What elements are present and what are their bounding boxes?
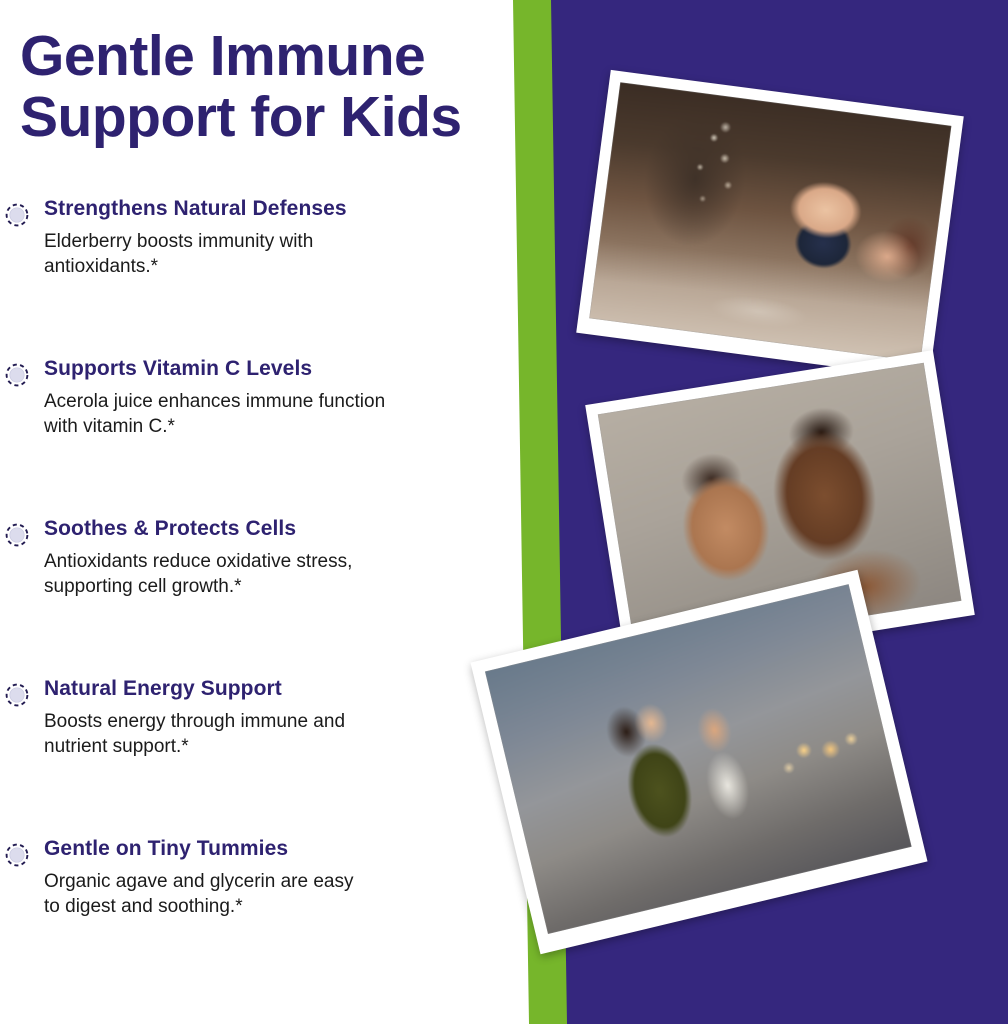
- infographic-canvas: Gentle Immune Support for Kids Strengthe…: [0, 0, 1008, 1024]
- photo-image-area: [589, 82, 951, 362]
- photo-image: [589, 82, 951, 362]
- benefit-description-line-1: Elderberry boosts immunity with: [44, 230, 540, 254]
- page-title: Gentle Immune Support for Kids: [20, 26, 580, 148]
- benefit-item-5: Gentle on Tiny Tummies Organic agave and…: [0, 836, 540, 919]
- benefit-title: Soothes & Protects Cells: [44, 516, 540, 541]
- benefits-list: Strengthens Natural Defenses Elderberry …: [0, 196, 540, 919]
- benefit-title: Supports Vitamin C Levels: [44, 356, 540, 381]
- benefit-description: Organic agave and glycerin are easy to d…: [44, 870, 540, 919]
- title-line-2: Support for Kids: [20, 87, 580, 148]
- benefit-description-line-1: Acerola juice enhances immune function: [44, 390, 540, 414]
- benefit-description-line-2: to digest and soothing.*: [44, 895, 540, 919]
- benefit-item-4: Natural Energy Support Boosts energy thr…: [0, 676, 540, 836]
- benefit-item-1: Strengthens Natural Defenses Elderberry …: [0, 196, 540, 356]
- benefit-item-2: Supports Vitamin C Levels Acerola juice …: [0, 356, 540, 516]
- benefit-description-line-2: nutrient support.*: [44, 735, 540, 759]
- benefit-description-line-2: supporting cell growth.*: [44, 575, 540, 599]
- benefit-title: Natural Energy Support: [44, 676, 540, 701]
- benefit-description-line-2: with vitamin C.*: [44, 415, 540, 439]
- benefit-title: Strengthens Natural Defenses: [44, 196, 540, 221]
- dashed-ring-circle-icon: [4, 522, 30, 548]
- dashed-ring-circle-icon: [4, 202, 30, 228]
- photo-mother-lying-with-baby: [576, 70, 964, 379]
- benefit-description: Antioxidants reduce oxidative stress, su…: [44, 550, 540, 599]
- benefit-description: Boosts energy through immune and nutrien…: [44, 710, 540, 759]
- dashed-ring-circle-icon: [4, 682, 30, 708]
- benefit-description-line-1: Antioxidants reduce oxidative stress,: [44, 550, 540, 574]
- dashed-ring-circle-icon: [4, 362, 30, 388]
- benefit-item-3: Soothes & Protects Cells Antioxidants re…: [0, 516, 540, 676]
- dashed-ring-circle-icon: [4, 842, 30, 868]
- benefit-description: Elderberry boosts immunity with antioxid…: [44, 230, 540, 279]
- benefit-description: Acerola juice enhances immune function w…: [44, 390, 540, 439]
- benefit-title: Gentle on Tiny Tummies: [44, 836, 540, 861]
- benefit-description-line-1: Organic agave and glycerin are easy: [44, 870, 540, 894]
- benefit-description-line-1: Boosts energy through immune and: [44, 710, 540, 734]
- title-line-1: Gentle Immune: [20, 26, 580, 87]
- benefit-description-line-2: antioxidants.*: [44, 255, 540, 279]
